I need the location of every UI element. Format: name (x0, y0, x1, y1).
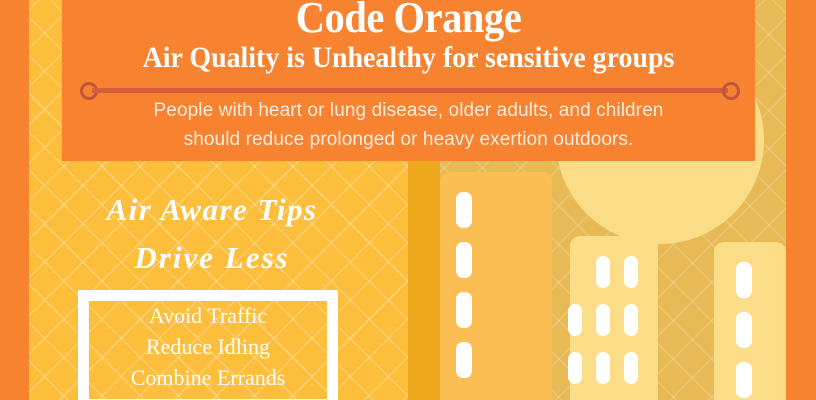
window (624, 256, 638, 288)
advisory-line-2: should reduce prolonged or heavy exertio… (92, 125, 725, 154)
window (456, 192, 472, 228)
window (736, 362, 752, 398)
advisory-line-1: People with heart or lung disease, older… (154, 100, 664, 121)
building-middle (570, 236, 658, 400)
advisory-text: People with heart or lung disease, older… (92, 96, 725, 154)
tips-list: Avoid Traffic Reduce Idling Combine Erra… (78, 300, 338, 393)
page-subtitle: Air Quality is Unhealthy for sensitive g… (86, 41, 730, 75)
list-item: Avoid Traffic (78, 300, 338, 331)
left-border-strip (0, 0, 29, 400)
tips-heading-line-1: Air Aware Tips (106, 192, 317, 227)
right-border-strip (786, 0, 816, 400)
window (624, 304, 638, 336)
window (568, 352, 582, 384)
window (456, 292, 472, 328)
divider-line (92, 88, 728, 93)
header-panel: Code Orange Air Quality is Unhealthy for… (62, 0, 755, 161)
list-item: Reduce Idling (78, 331, 338, 362)
window (624, 352, 638, 384)
window (736, 262, 752, 298)
building-right (714, 242, 786, 400)
page-title: Code Orange (90, 0, 728, 42)
building-left (440, 172, 552, 400)
window (568, 304, 582, 336)
window (596, 304, 610, 336)
tips-heading: Air Aware Tips Drive Less (62, 186, 362, 282)
window (596, 256, 610, 288)
infographic-canvas: Code Orange Air Quality is Unhealthy for… (0, 0, 816, 400)
tips-heading-line-2: Drive Less (62, 234, 362, 282)
window (596, 352, 610, 384)
window (736, 312, 752, 348)
window (456, 342, 472, 378)
window (456, 242, 472, 278)
list-item: Combine Errands (78, 362, 338, 393)
